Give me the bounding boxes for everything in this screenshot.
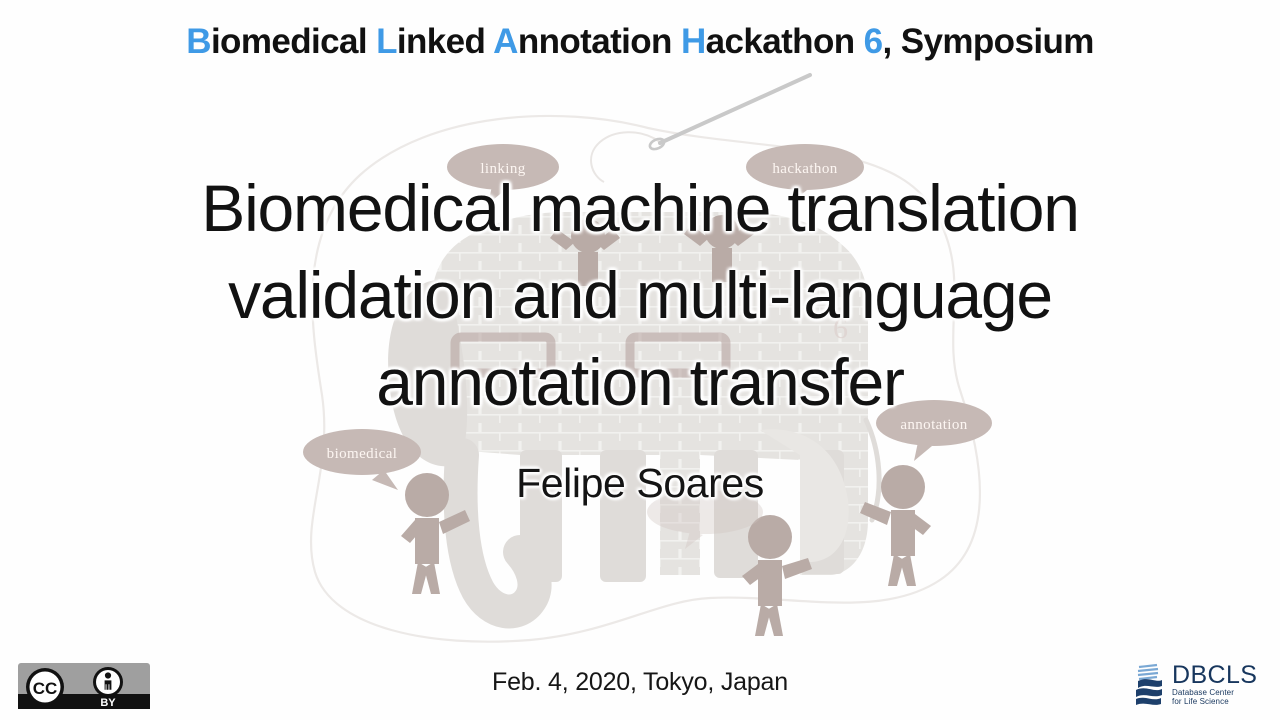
banner-letter-l: L bbox=[376, 22, 397, 61]
by-person-icon bbox=[93, 667, 123, 697]
dbcls-wordmark: DBCLS Database Center for Life Science bbox=[1172, 663, 1257, 706]
banner-letter-b: B bbox=[186, 22, 211, 61]
dbcls-subtitle-line-2: for Life Science bbox=[1172, 698, 1257, 706]
title-line-3: annotation transfer bbox=[0, 339, 1280, 426]
author-name: Felipe Soares bbox=[0, 460, 1280, 507]
slide-text-layer: Biomedical Linked Annotation Hackathon 6… bbox=[0, 0, 1280, 720]
banner-letter-a: A bbox=[493, 22, 518, 61]
dbcls-name: DBCLS bbox=[1172, 663, 1257, 688]
title-line-2: validation and multi-language bbox=[0, 252, 1280, 339]
cc-icon-text: CC bbox=[33, 679, 58, 698]
cc-by-license-badge[interactable]: CC BY bbox=[18, 663, 150, 709]
banner-word-symposium: , Symposium bbox=[883, 22, 1094, 61]
event-banner: Biomedical Linked Annotation Hackathon 6… bbox=[0, 22, 1280, 62]
dna-helix-icon bbox=[1132, 662, 1166, 706]
page-title: Biomedical machine translation validatio… bbox=[0, 165, 1280, 426]
banner-word-annotation: nnotation bbox=[518, 22, 681, 61]
by-label: BY bbox=[100, 697, 116, 709]
dbcls-logo[interactable]: DBCLS Database Center for Life Science bbox=[1132, 658, 1272, 710]
dbcls-subtitle-line-1: Database Center bbox=[1172, 689, 1257, 697]
cc-icon: CC bbox=[26, 668, 64, 706]
banner-letter-h: H bbox=[681, 22, 706, 61]
title-line-1: Biomedical machine translation bbox=[0, 165, 1280, 252]
banner-word-linked: inked bbox=[397, 22, 493, 61]
banner-word-biomedical: iomedical bbox=[211, 22, 376, 61]
presentation-slide: 6 bbox=[0, 0, 1280, 720]
date-and-venue: Feb. 4, 2020, Tokyo, Japan bbox=[0, 668, 1280, 697]
banner-word-hackathon: ackathon bbox=[706, 22, 864, 61]
banner-number-6: 6 bbox=[864, 22, 883, 61]
